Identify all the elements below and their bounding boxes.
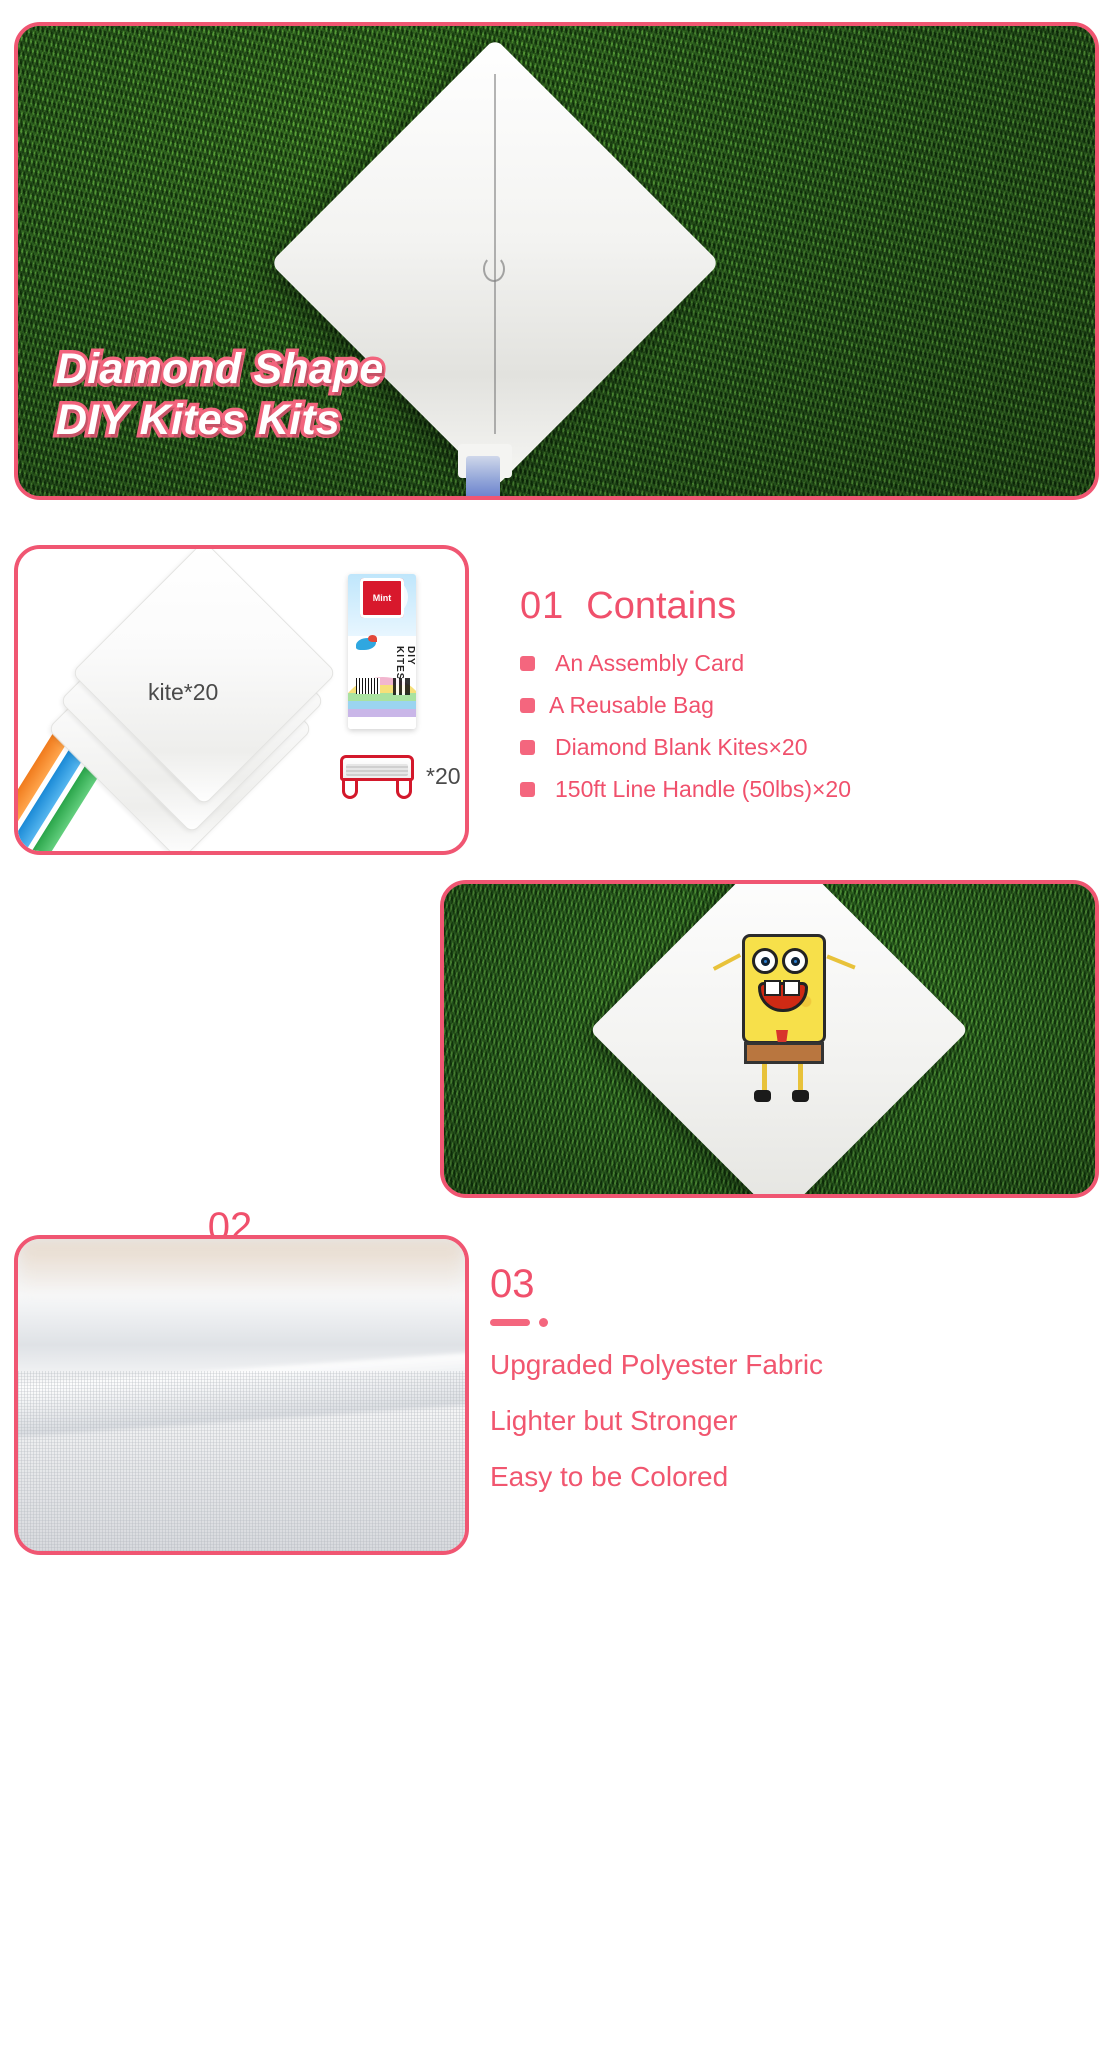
contains-photo-inner: kite*20 Mint DIY KITES *20: [18, 549, 465, 851]
spongebob-drawing: [742, 934, 826, 1044]
fabric-closeup-image: [18, 1239, 465, 1551]
line-handle-illustration: [336, 755, 418, 801]
divider-dot-icon: [539, 1318, 548, 1327]
section-02-photo-card: [440, 880, 1099, 1198]
section-03-divider: [490, 1307, 1100, 1337]
bullet-square-icon: [520, 740, 535, 755]
fabric-blur-highlight: [18, 1239, 465, 1297]
spongebob-shoe-left: [754, 1090, 771, 1102]
contains-heading: 01 Contains: [520, 585, 1100, 628]
kite-bridle-loop: [483, 256, 505, 282]
bullet-square-icon: [520, 782, 535, 797]
bullet-square-icon: [520, 698, 535, 713]
decorated-kite-illustration: [584, 880, 974, 1198]
contains-number: 01: [520, 585, 564, 628]
divider-dash-icon: [490, 1319, 530, 1326]
section-03-line-2: Lighter but Stronger: [490, 1393, 1100, 1449]
page-title-line-2: DIY Kites Kits: [56, 395, 476, 446]
list-item-label: Diamond Blank Kites×20: [549, 734, 808, 761]
contains-title: Contains: [586, 585, 736, 628]
barcode-icon: [356, 678, 380, 694]
handle-count-label: *20: [426, 763, 461, 790]
kite-spine: [494, 74, 496, 434]
spongebob-pants: [744, 1042, 824, 1064]
spongebob-eye-left: [752, 948, 778, 974]
list-item: 150ft Line Handle (50lbs)×20: [520, 776, 1100, 803]
spongebob-shoe-right: [792, 1090, 809, 1102]
list-item: Diamond Blank Kites×20: [520, 734, 1100, 761]
list-item: A Reusable Bag: [520, 692, 1100, 719]
spongebob-teeth: [764, 980, 800, 992]
list-item: An Assembly Card: [520, 650, 1100, 677]
kite-tail-ribbon: [466, 456, 500, 500]
qr-code-icon: [393, 678, 410, 695]
section-03-number: 03: [490, 1262, 1100, 1307]
spongebob-leg-right: [798, 1064, 803, 1092]
section-03-text-block: 03 Upgraded Polyester Fabric Lighter but…: [490, 1262, 1100, 1505]
packaging-box: Mint DIY KITES: [348, 574, 416, 729]
page-title-line-1: Diamond Shape: [56, 344, 476, 395]
hero-image-card: Diamond Shape DIY Kites Kits: [14, 22, 1099, 500]
section-03-line-3: Easy to be Colored: [490, 1449, 1100, 1505]
section-03-line-1: Upgraded Polyester Fabric: [490, 1337, 1100, 1393]
section-03-photo-card: [14, 1235, 469, 1555]
kite-count-label: kite*20: [148, 679, 218, 706]
contains-text-block: 01 Contains An Assembly Card A Reusable …: [520, 585, 1100, 818]
list-item-label: A Reusable Bag: [549, 692, 714, 719]
brand-logo: Mint: [360, 578, 404, 618]
fabric-weave-texture: [18, 1371, 465, 1551]
contains-photo-card: kite*20 Mint DIY KITES *20: [14, 545, 469, 855]
handle-leg-left: [342, 779, 358, 799]
handle-leg-right: [396, 779, 412, 799]
contains-list: An Assembly Card A Reusable Bag Diamond …: [520, 650, 1100, 803]
list-item-label: 150ft Line Handle (50lbs)×20: [549, 776, 851, 803]
bullet-square-icon: [520, 656, 535, 671]
spongebob-leg-left: [762, 1064, 767, 1092]
spongebob-eye-right: [782, 948, 808, 974]
page-title: Diamond Shape DIY Kites Kits: [56, 344, 476, 446]
handle-line-spool: [346, 764, 408, 776]
line-handle-group: *20: [336, 749, 469, 819]
list-item-label: An Assembly Card: [549, 650, 744, 677]
